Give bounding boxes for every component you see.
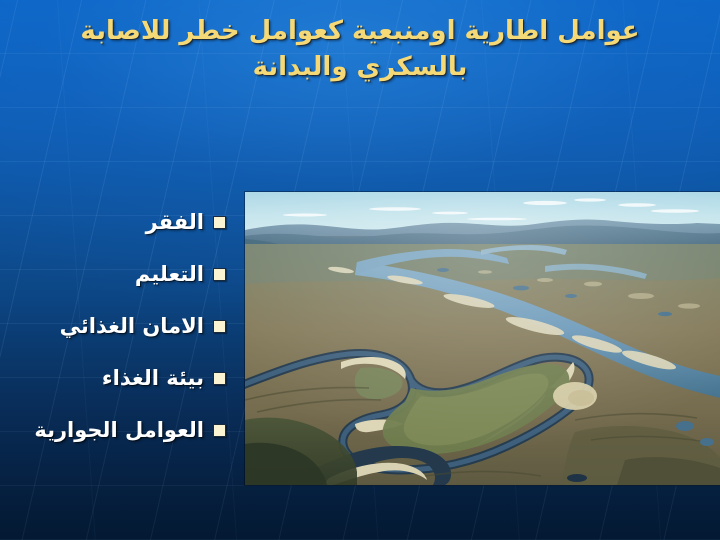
list-item-label: الفقر <box>146 210 204 234</box>
list-item[interactable]: العوامل الجوارية <box>6 404 228 456</box>
slide-photo <box>245 192 720 485</box>
list-item-label: الامان الغذائي <box>60 314 204 338</box>
list-item-label: العوامل الجوارية <box>34 418 204 442</box>
slide-title-line-2: بالسكري والبدانة <box>26 50 694 86</box>
presentation-slide: عوامل اطارية اومنبعية كعوامل خطر للاصابة… <box>0 0 720 540</box>
river-landscape-illustration <box>245 192 720 485</box>
slide-title-line-1: عوامل اطارية اومنبعية كعوامل خطر للاصابة <box>26 14 694 50</box>
square-bullet-icon <box>213 372 226 385</box>
list-item[interactable]: التعليم <box>6 248 228 300</box>
square-bullet-icon <box>213 216 226 229</box>
square-bullet-icon <box>213 424 226 437</box>
list-item[interactable]: الامان الغذائي <box>6 300 228 352</box>
slide-title: عوامل اطارية اومنبعية كعوامل خطر للاصابة… <box>0 14 720 86</box>
list-item[interactable]: الفقر <box>6 196 228 248</box>
list-item[interactable]: بيئة الغذاء <box>6 352 228 404</box>
list-item-label: بيئة الغذاء <box>102 366 204 390</box>
square-bullet-icon <box>213 268 226 281</box>
bullet-list: الفقر التعليم الامان الغذائي بيئة الغذاء… <box>6 196 228 456</box>
list-item-label: التعليم <box>135 262 204 286</box>
square-bullet-icon <box>213 320 226 333</box>
